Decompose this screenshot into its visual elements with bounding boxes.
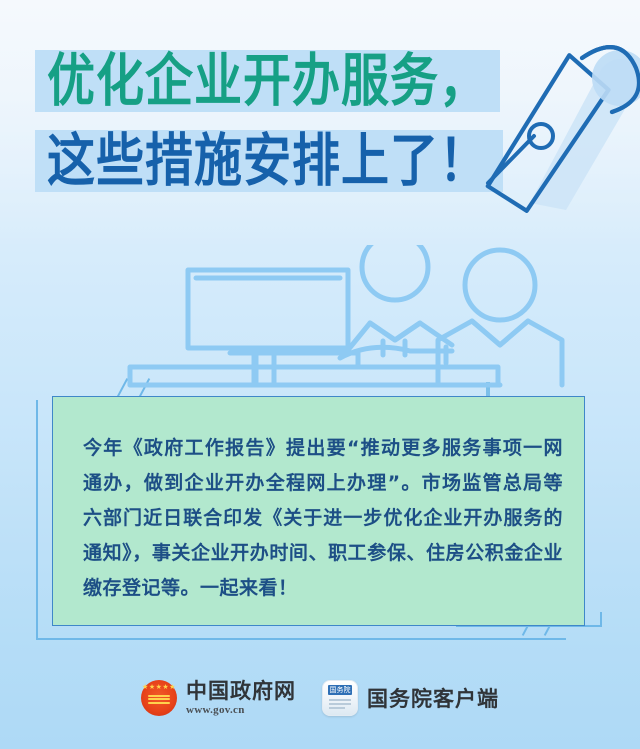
title-line-2: 这些措施安排上了！ — [35, 124, 488, 197]
title-line-2-row: 这些措施安排上了！ — [35, 130, 488, 192]
china-national-emblem-icon: ★★★★★ — [141, 680, 177, 716]
content-card: 今年《政府工作报告》提出要“推动更多服务事项一网通办，做到企业开办全程网上办理”… — [52, 396, 585, 626]
service-counter-illustration — [0, 245, 640, 395]
gov-site-url: www.gov.cn — [186, 705, 296, 716]
title-line-1: 优化企业开办服务， — [35, 44, 488, 117]
footer-logos: ★★★★★ 中国政府网 www.gov.cn 国务院 国务院客户端 — [0, 668, 640, 728]
card-frame-bottom-line — [36, 638, 566, 640]
app-logo-group[interactable]: 国务院 国务院客户端 — [322, 680, 499, 716]
pen-illustration — [470, 28, 640, 228]
content-card-area: 今年《政府工作报告》提出要“推动更多服务事项一网通办，做到企业开办全程网上办理”… — [36, 382, 604, 644]
gov-site-name: 中国政府网 — [186, 681, 296, 702]
counter-scene-icon — [0, 245, 640, 395]
fountain-pen-nib-icon — [470, 28, 640, 228]
emblem-stars: ★★★★★ — [141, 684, 177, 691]
card-frame-left-line — [36, 400, 38, 640]
card-frame-bottom-riser — [600, 612, 602, 627]
state-council-app-icon: 国务院 — [322, 680, 358, 716]
app-display-name: 国务院客户端 — [367, 683, 499, 713]
poster-root: 优化企业开办服务， 这些措施安排上了！ — [0, 0, 640, 749]
emblem-gate — [148, 693, 170, 706]
app-icon-label: 国务院 — [328, 685, 352, 695]
card-body-text: 今年《政府工作报告》提出要“推动更多服务事项一网通办，做到企业开办全程网上办理”… — [83, 431, 563, 606]
title-line-1-row: 优化企业开办服务， — [35, 50, 488, 112]
gov-logo-group[interactable]: ★★★★★ 中国政府网 www.gov.cn — [141, 680, 296, 716]
gov-logo-text: 中国政府网 www.gov.cn — [186, 681, 296, 716]
